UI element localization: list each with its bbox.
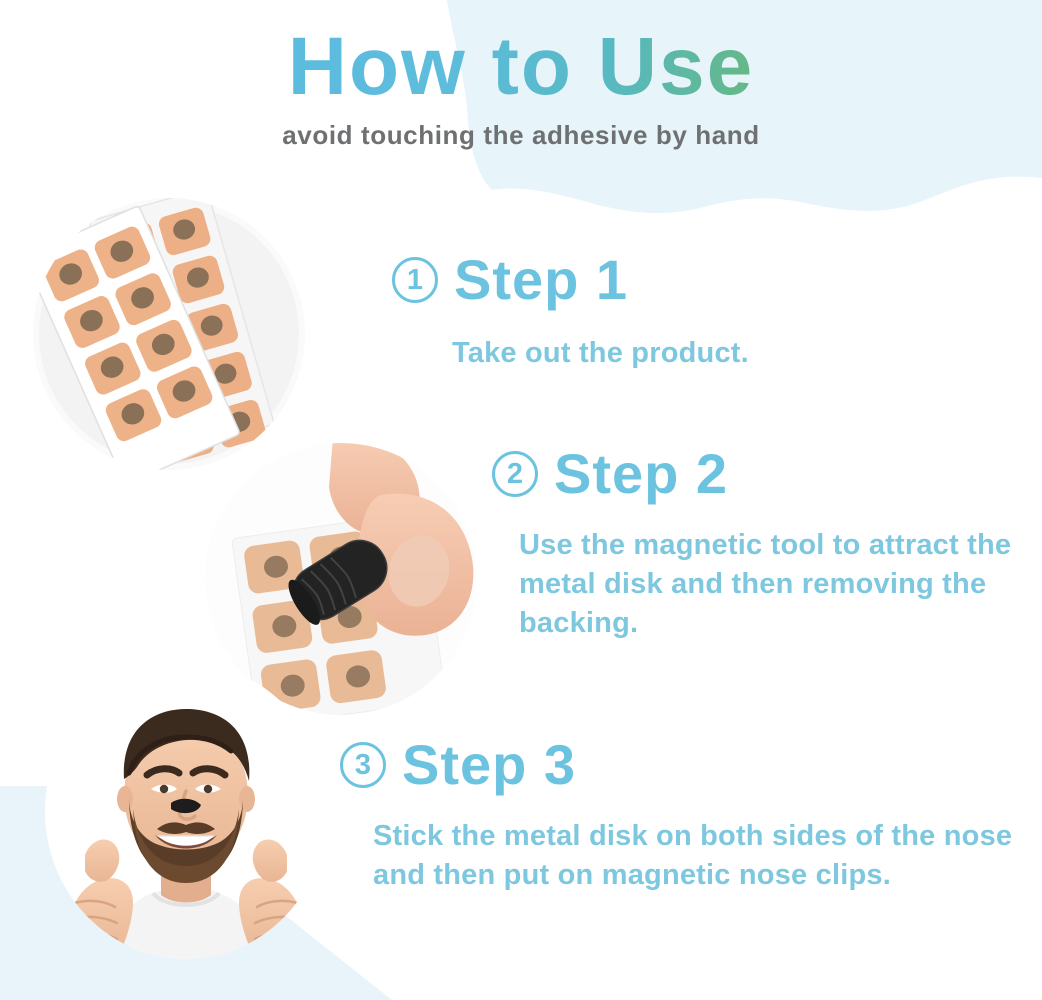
step-2: 2 Step 2 Use the magnetic tool to attrac… — [492, 446, 1032, 643]
step-3-title: Step 3 — [402, 737, 576, 793]
patch-sheets-illustration — [33, 198, 305, 470]
step-3-heading: 3 Step 3 — [340, 737, 1030, 793]
man-thumbs-up-illustration — [45, 663, 327, 959]
step-2-photo — [205, 443, 477, 715]
step-1-photo — [33, 198, 305, 470]
infographic-page: How to Use avoid touching the adhesive b… — [0, 0, 1042, 1000]
page-subtitle: avoid touching the adhesive by hand — [0, 120, 1042, 151]
magnetic-tool-illustration — [205, 443, 477, 715]
step-1: 1 Step 1 Take out the product. — [392, 252, 1012, 373]
step-3: 3 Step 3 Stick the metal disk on both si… — [340, 737, 1030, 895]
step-1-body: Take out the product. — [452, 334, 1012, 373]
page-title: How to Use — [0, 26, 1042, 108]
step-3-body: Stick the metal disk on both sides of th… — [373, 817, 1030, 895]
step-2-heading: 2 Step 2 — [492, 446, 1032, 502]
step-1-number-badge: 1 — [392, 257, 438, 303]
step-2-title: Step 2 — [554, 446, 728, 502]
step-1-title: Step 1 — [454, 252, 628, 308]
step-2-number-badge: 2 — [492, 451, 538, 497]
step-2-body: Use the magnetic tool to attract the met… — [519, 526, 1032, 643]
step-1-heading: 1 Step 1 — [392, 252, 1012, 308]
step-3-photo — [45, 663, 327, 959]
header: How to Use avoid touching the adhesive b… — [0, 0, 1042, 175]
step-3-number-badge: 3 — [340, 742, 386, 788]
